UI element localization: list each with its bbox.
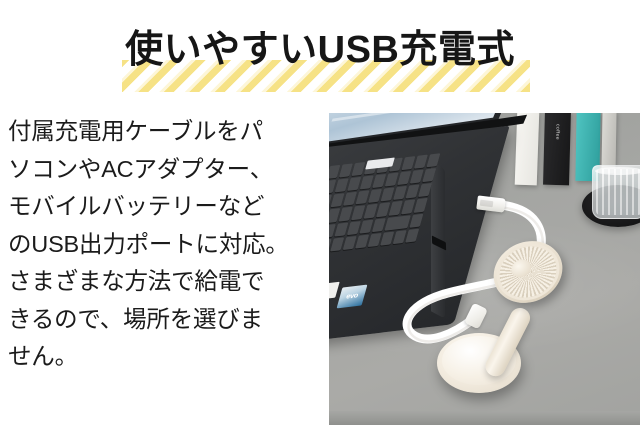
body-line: モバイルバッテリーなど <box>8 188 320 226</box>
product-photo: coffee <box>329 113 640 425</box>
evo-sticker-text: evo <box>345 292 359 300</box>
glass-rim <box>595 167 640 175</box>
body-copy: 付属充電用ケーブルをパ ソコンやACアダプター、 モバイルバッテリーなど のUS… <box>8 113 320 376</box>
book-spine-text: coffee <box>554 124 560 140</box>
body-line: のUSB出力ポートに対応。 <box>8 226 320 264</box>
glass-tumbler <box>592 165 640 219</box>
body-line: 付属充電用ケーブルをパ <box>8 113 320 151</box>
book-black: coffee <box>543 113 571 185</box>
body-line: きるので、場所を選びま <box>8 301 320 339</box>
keyboard-key <box>384 215 411 231</box>
body-line: せん。 <box>8 338 320 376</box>
heading-block: 使いやすいUSB充電式 <box>0 22 640 100</box>
body-line: さまざまな方法で給電で <box>8 263 320 301</box>
page-title: 使いやすいUSB充電式 <box>0 22 640 78</box>
body-line: ソコンやACアダプター、 <box>8 151 320 189</box>
glass-facets <box>596 169 640 215</box>
desk-edge <box>329 411 640 425</box>
